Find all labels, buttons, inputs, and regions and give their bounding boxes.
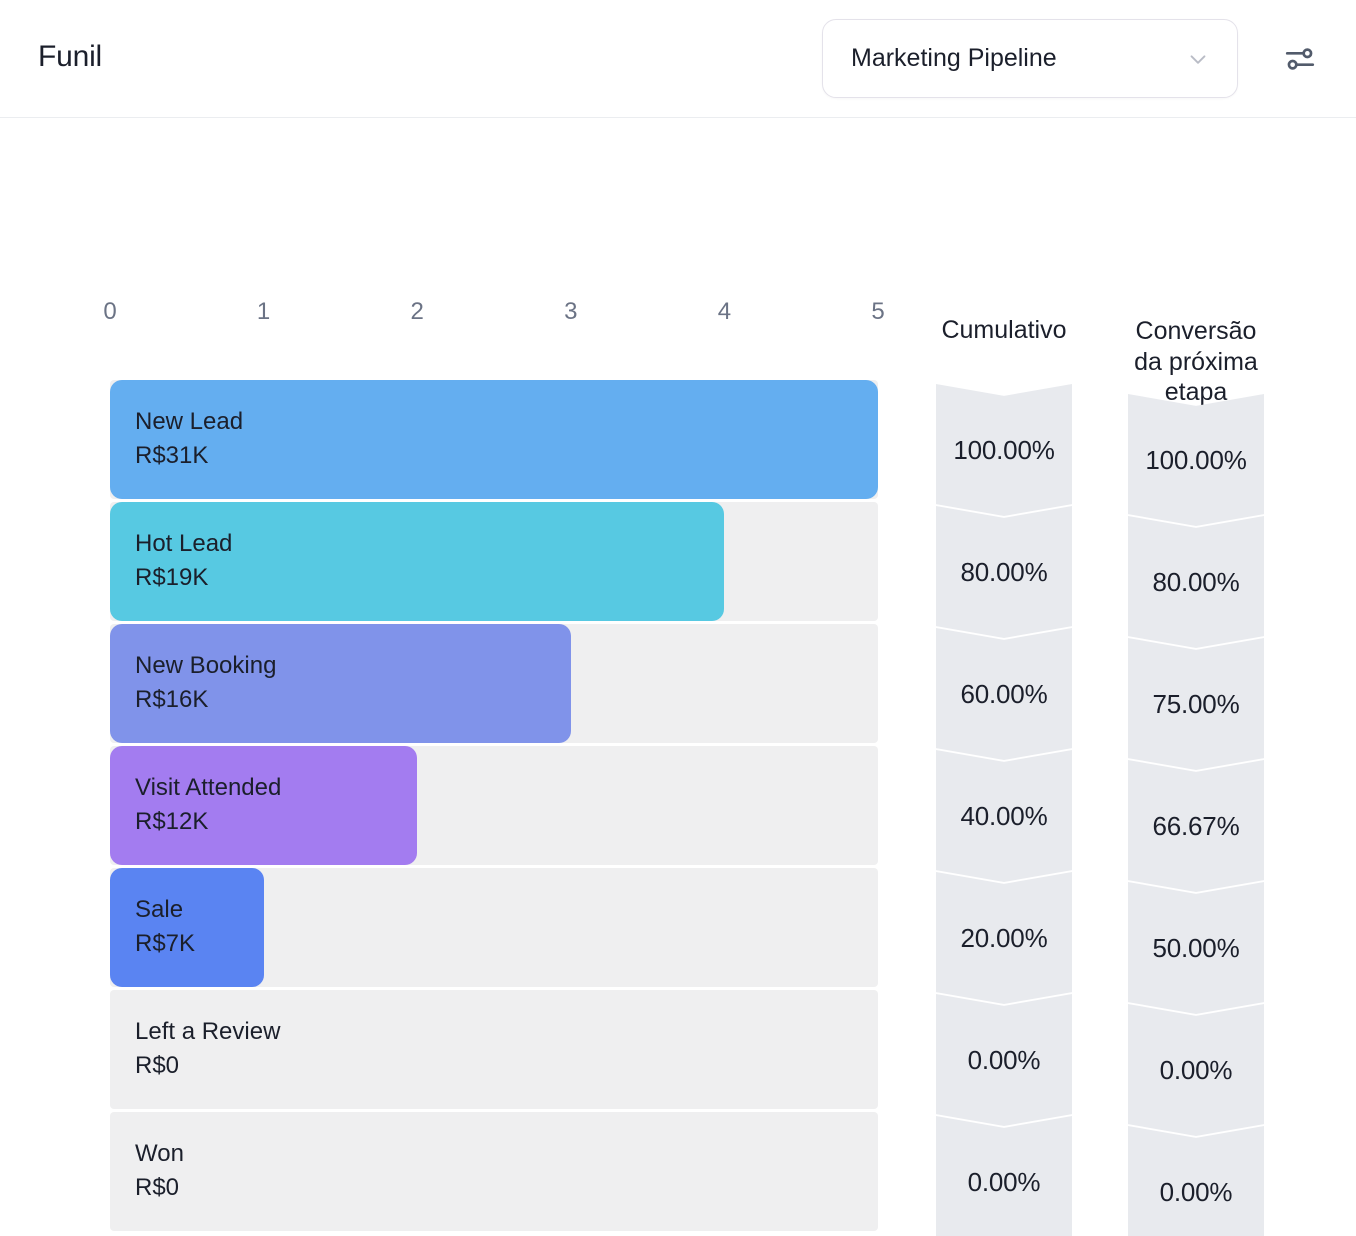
funnel-bar — [110, 868, 264, 987]
cumulative-cell: 60.00% — [936, 628, 1072, 760]
funnel-bar — [110, 624, 571, 743]
funnel-bar — [110, 502, 724, 621]
conversion-cell-value: 0.00% — [1160, 1177, 1233, 1208]
cumulative-cell: 0.00% — [936, 994, 1072, 1126]
conversion-cell: 100.00% — [1128, 394, 1264, 526]
page-header: Funil Marketing Pipeline — [0, 0, 1356, 118]
cumulative-cell: 100.00% — [936, 384, 1072, 516]
conversion-header: Conversão da próxima etapa — [1128, 316, 1264, 408]
x-axis-tick: 4 — [718, 298, 731, 326]
conversion-cell: 50.00% — [1128, 882, 1264, 1014]
cumulative-cell-value: 100.00% — [953, 435, 1054, 466]
conversion-cell: 75.00% — [1128, 638, 1264, 770]
funnel-bar-track — [110, 1112, 878, 1231]
funnel-stage-row[interactable]: Left a ReviewR$0 — [110, 990, 878, 1109]
conversion-cell-value: 50.00% — [1153, 933, 1240, 964]
conversion-cell-value: 80.00% — [1153, 567, 1240, 598]
conversion-cell: 66.67% — [1128, 760, 1264, 892]
funnel-bar-track — [110, 990, 878, 1109]
pipeline-select[interactable]: Marketing Pipeline — [822, 19, 1238, 98]
cumulative-cell-value: 60.00% — [961, 679, 1048, 710]
conversion-cell-value: 0.00% — [1160, 1055, 1233, 1086]
funnel-chart: 012345 New LeadR$31KHot LeadR$19KNew Boo… — [0, 118, 1356, 1236]
cumulative-cell-value: 80.00% — [961, 557, 1048, 588]
cumulative-cell-value: 40.00% — [961, 801, 1048, 832]
x-axis-tick: 2 — [411, 298, 424, 326]
funnel-stage-row[interactable]: SaleR$7K — [110, 868, 878, 987]
cumulative-cell: 20.00% — [936, 872, 1072, 1004]
conversion-cell: 0.00% — [1128, 1126, 1264, 1236]
cumulative-cell: 40.00% — [936, 750, 1072, 882]
conversion-cell-value: 66.67% — [1153, 811, 1240, 842]
conversion-cell-value: 100.00% — [1145, 445, 1246, 476]
sliders-icon[interactable] — [1283, 42, 1317, 76]
funnel-stage-row[interactable]: Hot LeadR$19K — [110, 502, 878, 621]
x-axis-tick: 0 — [103, 298, 116, 326]
cumulative-cell-value: 0.00% — [968, 1167, 1041, 1198]
funnel-stage-row[interactable]: New BookingR$16K — [110, 624, 878, 743]
funnel-bar — [110, 380, 878, 499]
x-axis-tick: 3 — [564, 298, 577, 326]
cumulative-cell: 0.00% — [936, 1116, 1072, 1236]
cumulative-header: Cumulativo — [936, 314, 1072, 346]
x-axis-tick: 5 — [871, 298, 884, 326]
funnel-stage-row[interactable]: Visit AttendedR$12K — [110, 746, 878, 865]
pipeline-select-value: Marketing Pipeline — [851, 44, 1185, 73]
x-axis-tick: 1 — [257, 298, 270, 326]
funnel-bar — [110, 746, 417, 865]
cumulative-cell-value: 20.00% — [961, 923, 1048, 954]
x-axis: 012345 — [0, 298, 1000, 338]
page-title: Funil — [38, 40, 102, 74]
funnel-stage-row[interactable]: WonR$0 — [110, 1112, 878, 1231]
cumulative-cell-value: 0.00% — [968, 1045, 1041, 1076]
funnel-stage-row[interactable]: New LeadR$31K — [110, 380, 878, 499]
cumulative-cell: 80.00% — [936, 506, 1072, 638]
conversion-cell: 80.00% — [1128, 516, 1264, 648]
chevron-down-icon — [1185, 46, 1211, 72]
conversion-cell-value: 75.00% — [1153, 689, 1240, 720]
conversion-cell: 0.00% — [1128, 1004, 1264, 1136]
